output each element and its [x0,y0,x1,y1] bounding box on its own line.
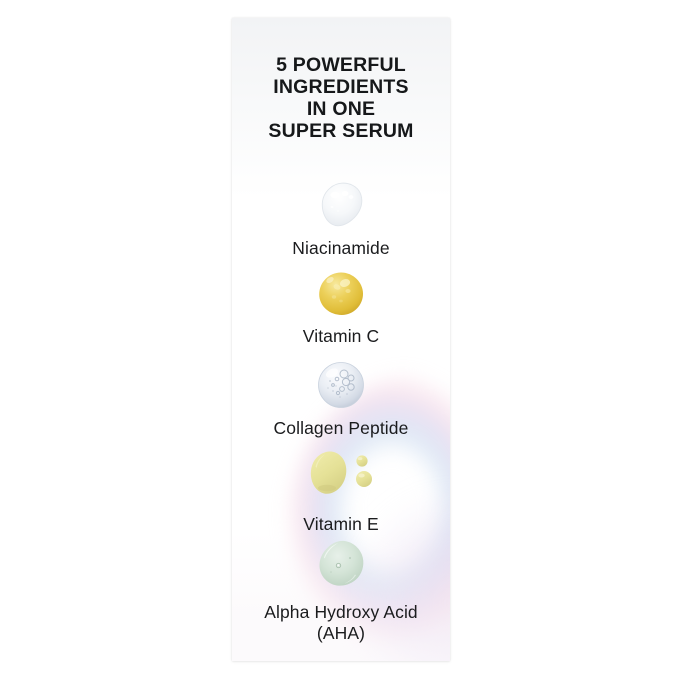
heading-line-1: 5 POWERFUL [232,54,450,76]
collagen-peptide-label: Collagen Peptide [232,418,450,439]
vitamin-e-droplet-icon [232,450,450,508]
vitamin-e-label-line-1: Vitamin E [232,514,450,535]
ingredient-collagen-peptide: Collagen Peptide [232,360,450,439]
alpha-hydroxy-acid-label-line-1: Alpha Hydroxy Acid [232,602,450,623]
collagen-peptide-droplet-icon [232,360,450,412]
vitamin-c-droplet-icon [232,270,450,320]
panel-content: 5 POWERFUL INGREDIENTS IN ONE SUPER SERU… [232,18,450,661]
ingredient-vitamin-c: Vitamin C [232,270,450,347]
ingredient-niacinamide: Niacinamide [232,180,450,259]
ingredient-alpha-hydroxy-acid: Alpha Hydroxy Acid (AHA) [232,538,450,644]
niacinamide-droplet-icon [232,180,450,232]
product-packaging-panel: 5 POWERFUL INGREDIENTS IN ONE SUPER SERU… [232,18,450,661]
heading-line-2: INGREDIENTS [232,76,450,98]
niacinamide-label-line-1: Niacinamide [232,238,450,259]
alpha-hydroxy-acid-label: Alpha Hydroxy Acid (AHA) [232,602,450,644]
vitamin-c-label-line-1: Vitamin C [232,326,450,347]
heading-line-3: IN ONE [232,98,450,120]
vitamin-e-label: Vitamin E [232,514,450,535]
niacinamide-label: Niacinamide [232,238,450,259]
collagen-peptide-label-line-1: Collagen Peptide [232,418,450,439]
alpha-hydroxy-acid-droplet-icon [232,538,450,596]
alpha-hydroxy-acid-label-line-2: (AHA) [232,623,450,644]
ingredient-vitamin-e: Vitamin E [232,450,450,535]
vitamin-c-label: Vitamin C [232,326,450,347]
panel-heading: 5 POWERFUL INGREDIENTS IN ONE SUPER SERU… [232,54,450,142]
heading-line-4: SUPER SERUM [232,120,450,142]
